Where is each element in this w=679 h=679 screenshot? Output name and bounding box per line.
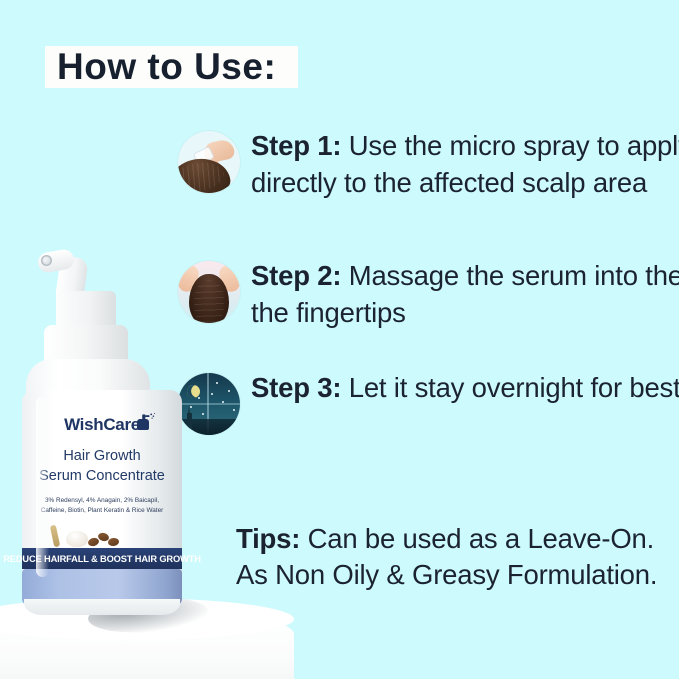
botanical-ingredients-illustration <box>28 521 176 547</box>
ingredients-text: 3% Redensyl, 4% Anagain, 2% Baicapil, Ca… <box>28 496 176 515</box>
step-3-label: Step 3: <box>251 372 341 403</box>
step-3-text: Step 3: Let it stay overnight for best r… <box>251 369 679 406</box>
step-2-text: Step 2: Massage the serum into the scalp… <box>251 257 679 331</box>
step-3-body: Let it stay overnight for best results <box>341 372 679 403</box>
step-1-text: Step 1: Use the micro spray to apply ser… <box>251 127 679 201</box>
product-tagline: REDUCE HAIRFALL & BOOST HAIR GROWTH <box>3 554 201 564</box>
step-row-1: Step 1: Use the micro spray to apply ser… <box>178 131 240 193</box>
page-title: How to Use: <box>57 44 276 90</box>
pump-collar <box>56 291 116 329</box>
product-instruction-graphic: How to Use: Step 1: Use the micro spray … <box>0 0 679 679</box>
ingredients-line-1: 3% Redensyl, 4% Anagain, 2% Baicapil, <box>45 497 159 504</box>
tips-label: Tips: <box>236 523 300 554</box>
wishcare-spray-bottle-logo-icon <box>134 412 156 432</box>
tips-block: Tips: Can be used as a Leave-On. As Non … <box>236 521 676 593</box>
step-2-label: Step 2: <box>251 260 341 291</box>
product-name-line-2: Serum Concentrate <box>39 468 165 484</box>
tips-line-2: As Non Oily & Greasy Formulation. <box>236 559 657 590</box>
product-bottle: WishCare Hair Growth Serum Concentrate 3… <box>14 247 200 605</box>
hand-spraying-hair-icon <box>178 131 240 193</box>
step-1-label: Step 1: <box>251 130 341 161</box>
bottle-foot <box>24 599 180 615</box>
bottle-highlight <box>36 397 49 577</box>
tips-line-1: Can be used as a Leave-On. <box>300 523 654 554</box>
ingredients-line-2: Caffeine, Biotin, Plant Keratin & Rice W… <box>41 507 164 514</box>
product-name-line-1: Hair Growth <box>63 448 140 464</box>
